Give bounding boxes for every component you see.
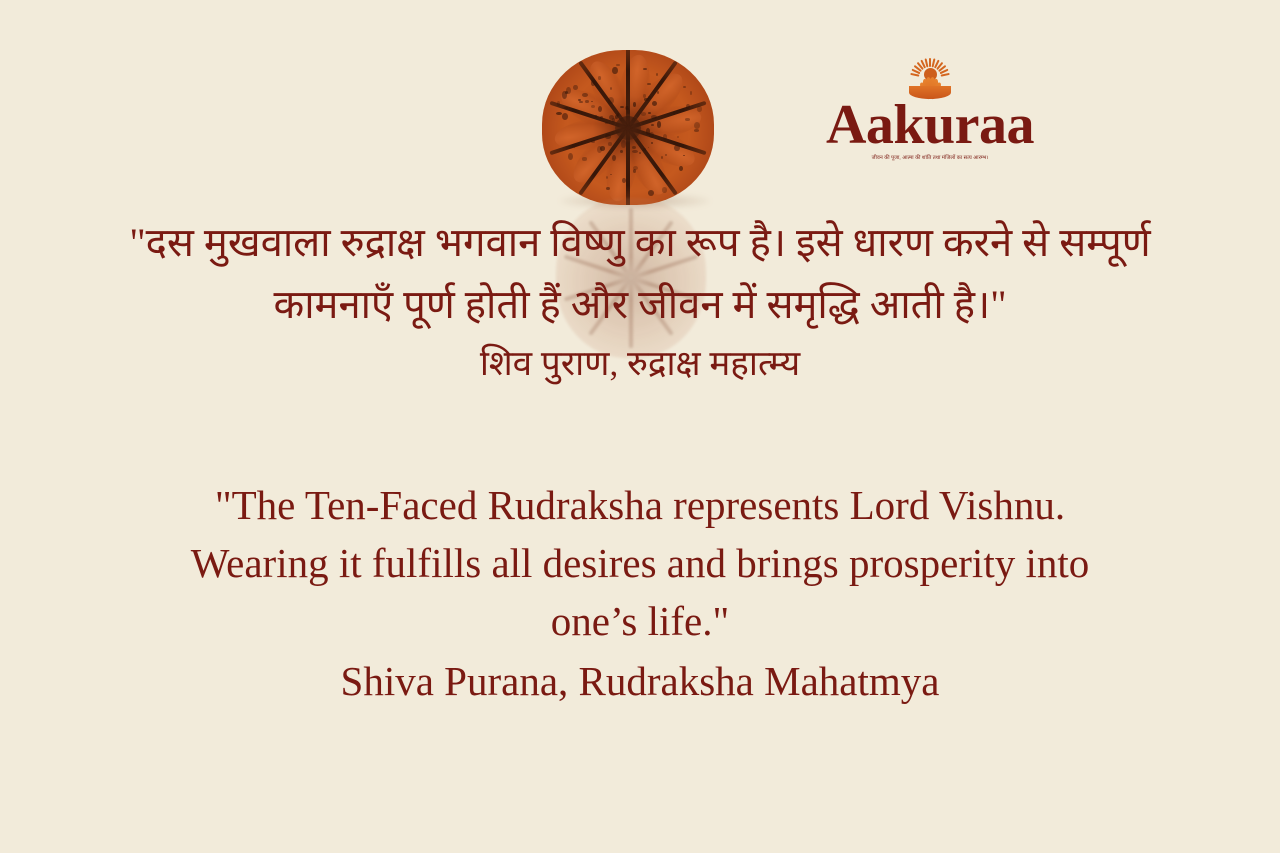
bead-texture-speck — [620, 106, 624, 108]
bead-texture-speck — [651, 124, 654, 126]
bead-texture-speck — [694, 129, 699, 132]
bead-texture-speck — [643, 94, 646, 97]
bead-texture-speck — [612, 118, 615, 122]
bead-texture-speck — [683, 86, 685, 88]
bead-texture-speck — [679, 166, 683, 171]
bead-texture-speck — [605, 122, 608, 123]
bead-texture-speck — [591, 105, 595, 108]
english-quote-line-2: Wearing it fulfills all desires and brin… — [110, 534, 1170, 592]
bead-groove — [626, 128, 630, 206]
bead-texture-speck — [685, 118, 689, 121]
english-quote-source: Shiva Purana, Rudraksha Mahatmya — [110, 650, 1170, 710]
english-quote-block: "The Ten-Faced Rudraksha represents Lord… — [0, 476, 1280, 710]
bead-texture-speck — [598, 106, 602, 112]
bead-texture-speck — [673, 112, 675, 115]
bead-texture-speck — [621, 140, 626, 148]
bead-texture-speck — [677, 136, 679, 138]
bead-texture-speck — [632, 150, 638, 153]
bead-texture-speck — [564, 107, 568, 109]
hindi-quote-source: शिव पुराण, रुद्राक्ष महात्म्य — [24, 336, 1256, 392]
hindi-quote-line-2: कामनाएँ पूर्ण होती हैं और जीवन में समृद्… — [24, 274, 1256, 336]
bead-texture-speck — [643, 68, 647, 70]
lotus-sun-icon — [899, 56, 961, 98]
bead-texture-speck — [585, 100, 589, 103]
bead-texture-speck — [647, 83, 651, 85]
bead-texture-speck — [697, 106, 702, 112]
brand-wordmark: Aakuraa — [820, 96, 1040, 154]
bead-texture-speck — [617, 113, 619, 116]
bead-texture-speck — [610, 174, 612, 175]
bead-texture-speck — [626, 106, 628, 108]
bead-texture-speck — [641, 112, 646, 115]
bead-texture-speck — [606, 176, 608, 179]
bead-texture-speck — [591, 80, 595, 86]
hindi-quote-block: "दस मुखवाला रुद्राक्ष भगवान विष्णु का रू… — [0, 212, 1280, 392]
bead-texture-speck — [648, 190, 654, 196]
bead-texture-speck — [612, 67, 617, 74]
english-quote-line-1: "The Ten-Faced Rudraksha represents Lord… — [110, 476, 1170, 534]
bead-texture-speck — [597, 146, 602, 153]
brand-tagline: जीवन की पूजा, आत्मा की शांति तथा मंजिलों… — [820, 155, 1040, 162]
bead-texture-speck — [665, 154, 667, 155]
bead-texture-speck — [651, 115, 657, 119]
bead-texture-speck — [694, 122, 700, 129]
bead-texture-speck — [582, 93, 588, 97]
bead-texture-speck — [616, 64, 619, 66]
rudraksha-bead-icon — [542, 50, 714, 205]
bead-texture-speck — [605, 134, 611, 139]
emblem-ray — [941, 73, 950, 77]
bead-texture-speck — [562, 113, 568, 120]
bead-texture-speck — [656, 73, 658, 76]
bead-texture-speck — [649, 132, 653, 138]
bead-texture-speck — [568, 153, 573, 160]
bead-texture-speck — [573, 85, 578, 90]
rudraksha-bead-artwork — [542, 50, 714, 210]
bead-texture-speck — [620, 150, 623, 153]
poster-canvas: Aakuraa जीवन की पूजा, आत्मा की शांति तथा… — [0, 0, 1280, 853]
bead-texture-speck — [591, 140, 595, 143]
bead-texture-speck — [648, 112, 651, 114]
bead-texture-speck — [674, 145, 679, 151]
bead-texture-speck — [615, 115, 618, 119]
bead-texture-speck — [661, 156, 663, 159]
bead-texture-speck — [606, 187, 610, 191]
bead-texture-speck — [662, 187, 666, 192]
english-quote-line-3: one’s life." — [110, 592, 1170, 650]
bead-texture-speck — [648, 96, 651, 99]
emblem-lotus-base — [909, 86, 951, 99]
bead-texture-speck — [612, 155, 616, 161]
hindi-quote-line-1: "दस मुखवाला रुद्राक्ष भगवान विष्णु का रू… — [24, 212, 1256, 274]
bead-texture-speck — [582, 157, 587, 160]
brand-logo[interactable]: Aakuraa जीवन की पूजा, आत्मा की शांति तथा… — [820, 56, 1040, 161]
bead-groove — [626, 50, 630, 128]
bead-texture-speck — [690, 91, 693, 94]
